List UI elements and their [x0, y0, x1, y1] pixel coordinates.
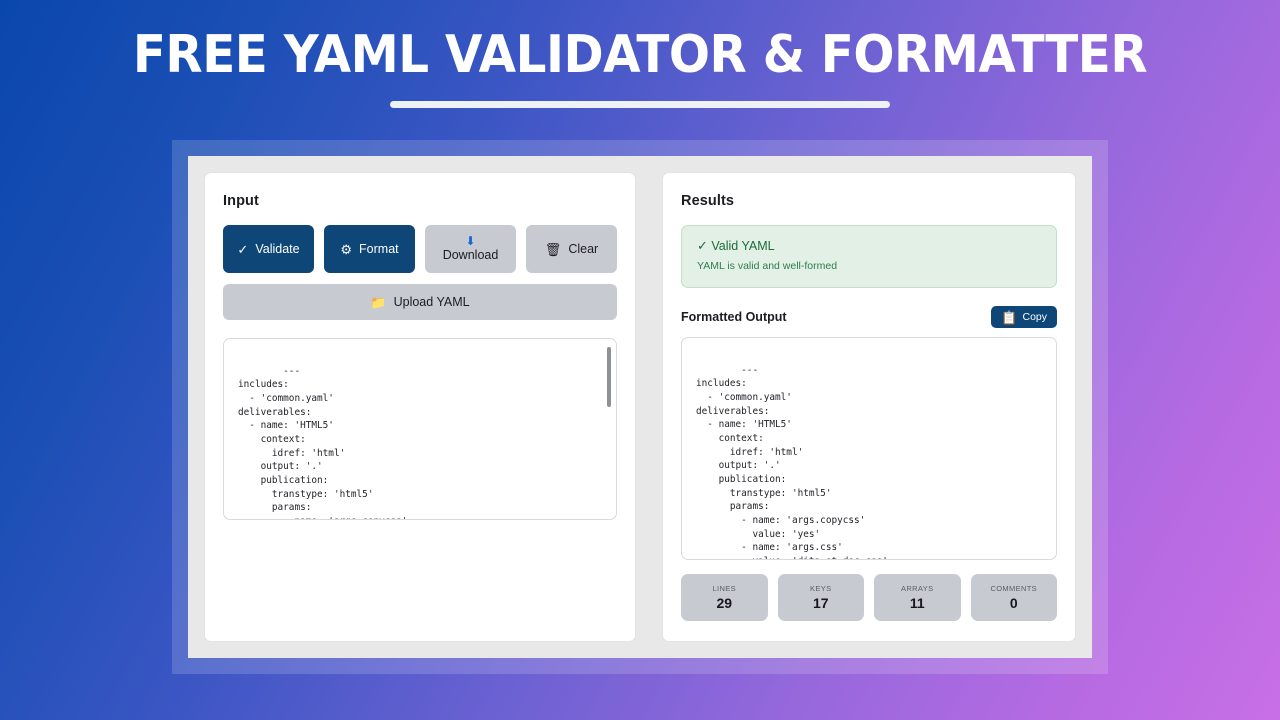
- app-inner-surface: Input ✓ Validate ⚙ Format ⬇ Download 🗑 C…: [188, 156, 1092, 658]
- validate-button[interactable]: ✓ Validate: [223, 225, 314, 273]
- copy-button-label: Copy: [1022, 311, 1047, 323]
- stat-arrays-label: ARRAYS: [901, 584, 933, 593]
- stat-lines-label: LINES: [713, 584, 736, 593]
- input-panel: Input ✓ Validate ⚙ Format ⬇ Download 🗑 C…: [204, 172, 636, 642]
- input-scrollbar-thumb[interactable]: [607, 347, 611, 407]
- input-scrollbar[interactable]: [606, 345, 611, 513]
- clear-button-label: Clear: [568, 242, 598, 256]
- status-title-label: Valid YAML: [711, 239, 774, 253]
- stat-arrays: ARRAYS 11: [874, 574, 961, 621]
- folder-icon: 📁: [370, 296, 386, 309]
- upload-yaml-label: Upload YAML: [394, 295, 470, 309]
- yaml-input-textarea[interactable]: --- include​s: - 'common.yaml' deliverab…: [223, 338, 617, 520]
- download-button[interactable]: ⬇ Download: [425, 225, 516, 273]
- stat-keys: KEYS 17: [778, 574, 865, 621]
- trash-icon: 🗑: [545, 243, 562, 256]
- upload-yaml-button[interactable]: 📁 Upload YAML: [223, 284, 617, 320]
- results-panel: Results ✓ Valid YAML YAML is valid and w…: [662, 172, 1076, 642]
- check-icon: ✓: [697, 239, 708, 252]
- stat-lines: LINES 29: [681, 574, 768, 621]
- page-title: FREE YAML VALIDATOR & FORMATTER: [45, 28, 1235, 83]
- gear-icon: ⚙: [340, 243, 352, 256]
- input-panel-heading: Input: [223, 193, 617, 209]
- stat-keys-label: KEYS: [810, 584, 831, 593]
- clipboard-icon: 📋: [1001, 311, 1017, 324]
- input-action-buttons: ✓ Validate ⚙ Format ⬇ Download 🗑 Clear: [223, 225, 617, 273]
- yaml-output-content: --- includes: - 'common.yaml' deliverabl…: [696, 365, 888, 560]
- format-button-label: Format: [359, 242, 399, 256]
- title-underline: [390, 101, 890, 108]
- page-header: FREE YAML VALIDATOR & FORMATTER: [0, 28, 1280, 108]
- yaml-output-area[interactable]: --- includes: - 'common.yaml' deliverabl…: [681, 337, 1057, 560]
- formatted-output-header: Formatted Output 📋 Copy: [681, 306, 1057, 328]
- stat-comments: COMMENTS 0: [971, 574, 1058, 621]
- copy-button[interactable]: 📋 Copy: [991, 306, 1057, 328]
- status-title: ✓ Valid YAML: [697, 239, 1041, 253]
- stat-keys-value: 17: [813, 595, 829, 611]
- formatted-output-label: Formatted Output: [681, 310, 787, 324]
- stat-arrays-value: 11: [910, 595, 925, 611]
- stat-lines-value: 29: [716, 595, 732, 611]
- stat-comments-value: 0: [1010, 595, 1018, 611]
- yaml-input-content: --- include​s: - 'common.yaml' deliverab…: [238, 366, 407, 520]
- stats-row: LINES 29 KEYS 17 ARRAYS 11 COMMENTS 0: [681, 574, 1057, 621]
- clear-button[interactable]: 🗑 Clear: [526, 225, 617, 273]
- download-icon: ⬇: [465, 235, 475, 247]
- app-frame: Input ✓ Validate ⚙ Format ⬇ Download 🗑 C…: [172, 140, 1108, 674]
- format-button[interactable]: ⚙ Format: [324, 225, 415, 273]
- validate-button-label: Validate: [255, 242, 299, 256]
- status-badge: ✓ Valid YAML YAML is valid and well-form…: [681, 225, 1057, 288]
- status-subtitle: YAML is valid and well-formed: [697, 260, 1041, 272]
- stat-comments-label: COMMENTS: [990, 584, 1037, 593]
- download-button-label: Download: [443, 248, 499, 262]
- results-panel-heading: Results: [681, 193, 1057, 209]
- check-icon: ✓: [237, 243, 248, 256]
